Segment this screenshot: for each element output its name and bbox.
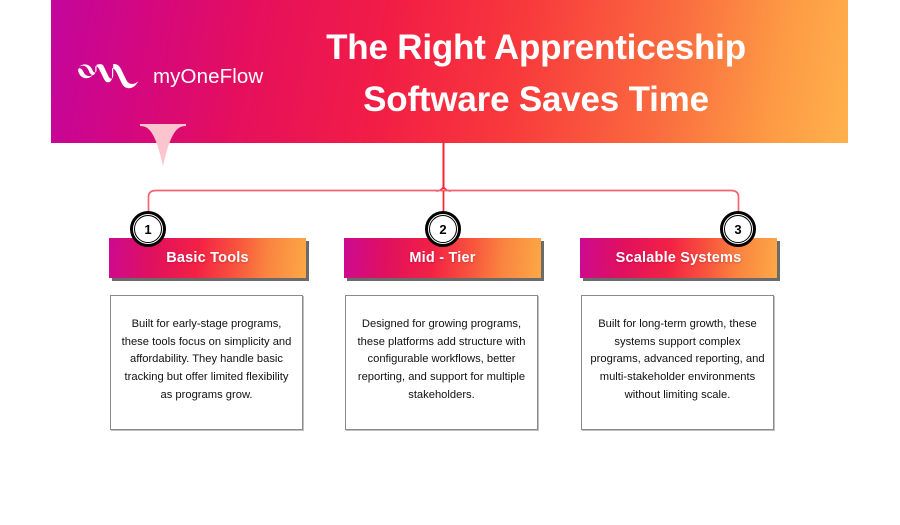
card-title-1: Basic Tools	[166, 250, 249, 266]
badge-inner-ring-2: 2	[429, 215, 457, 243]
card-body-2: Designed for growing programs, these pla…	[345, 295, 538, 430]
card-title-3: Scalable Systems	[616, 250, 742, 266]
card-title-2: Mid - Tier	[409, 250, 475, 266]
step-badge-3: 3	[720, 211, 756, 247]
page-title-line-2: Software Saves Time	[231, 74, 841, 126]
card-body-3: Built for long-term growth, these system…	[581, 295, 774, 430]
step-badge-2: 2	[425, 211, 461, 247]
page-title-line-1: The Right Apprenticeship	[231, 22, 841, 74]
badge-inner-ring-1: 1	[134, 215, 162, 243]
step-badge-1: 1	[130, 211, 166, 247]
header-banner: myOneFlow The Right Apprenticeship Softw…	[51, 0, 848, 143]
badge-number-2: 2	[439, 223, 446, 236]
card-description-1: Built for early-stage programs, these to…	[111, 316, 302, 404]
badge-inner-ring-3: 3	[724, 215, 752, 243]
card-description-2: Designed for growing programs, these pla…	[346, 316, 537, 404]
badge-number-3: 3	[734, 223, 741, 236]
wave-flow-logo-icon	[77, 64, 143, 90]
card-description-3: Built for long-term growth, these system…	[582, 316, 773, 404]
card-body-1: Built for early-stage programs, these to…	[110, 295, 303, 430]
infographic-canvas: myOneFlow The Right Apprenticeship Softw…	[0, 0, 900, 525]
page-title: The Right Apprenticeship Software Saves …	[231, 22, 841, 126]
badge-number-1: 1	[144, 223, 151, 236]
